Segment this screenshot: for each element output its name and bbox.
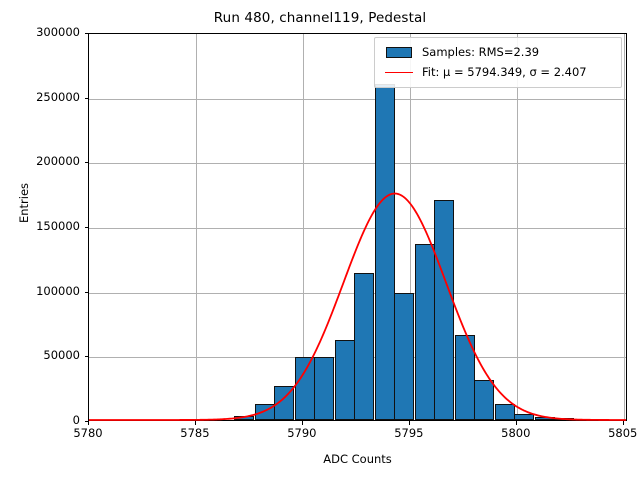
legend-patch-icon xyxy=(382,47,416,58)
legend-label-samples: Samples: RMS=2.39 xyxy=(416,45,539,59)
y-tick-mark xyxy=(85,227,89,228)
x-tick-mark xyxy=(302,421,303,425)
y-tick-label: 0 xyxy=(0,413,80,427)
legend-item-samples: Samples: RMS=2.39 xyxy=(382,42,614,62)
x-tick-mark xyxy=(623,421,624,425)
y-tick-mark xyxy=(85,162,89,163)
y-tick-mark xyxy=(85,33,89,34)
x-tick-mark xyxy=(409,421,410,425)
chart-title: Run 480, channel119, Pedestal xyxy=(0,10,640,26)
plot-axes xyxy=(88,33,627,421)
y-tick-label: 250000 xyxy=(0,90,80,104)
x-tick-label: 5800 xyxy=(486,426,546,440)
legend-line-icon xyxy=(382,72,416,73)
x-tick-label: 5780 xyxy=(58,426,118,440)
chart-legend: Samples: RMS=2.39 Fit: μ = 5794.349, σ =… xyxy=(374,37,622,88)
y-tick-label: 300000 xyxy=(0,25,80,39)
y-tick-mark xyxy=(85,421,89,422)
y-tick-label: 50000 xyxy=(0,348,80,362)
x-axis-label: ADC Counts xyxy=(88,452,627,466)
gaussian-fit-curve xyxy=(89,34,626,420)
legend-label-fit: Fit: μ = 5794.349, σ = 2.407 xyxy=(416,65,587,79)
x-tick-label: 5785 xyxy=(165,426,225,440)
y-tick-mark xyxy=(85,292,89,293)
y-tick-mark xyxy=(85,356,89,357)
x-tick-mark xyxy=(195,421,196,425)
figure-canvas: Run 480, channel119, Pedestal 5780578557… xyxy=(0,0,640,480)
x-tick-mark xyxy=(516,421,517,425)
x-tick-label: 5790 xyxy=(272,426,332,440)
y-tick-label: 100000 xyxy=(0,284,80,298)
y-tick-label: 150000 xyxy=(0,219,80,233)
x-tick-label: 5805 xyxy=(593,426,640,440)
x-tick-label: 5795 xyxy=(379,426,439,440)
y-tick-mark xyxy=(85,98,89,99)
x-tick-mark xyxy=(88,421,89,425)
legend-item-fit: Fit: μ = 5794.349, σ = 2.407 xyxy=(382,62,614,82)
y-tick-label: 200000 xyxy=(0,154,80,168)
y-axis-label: Entries xyxy=(17,143,31,263)
